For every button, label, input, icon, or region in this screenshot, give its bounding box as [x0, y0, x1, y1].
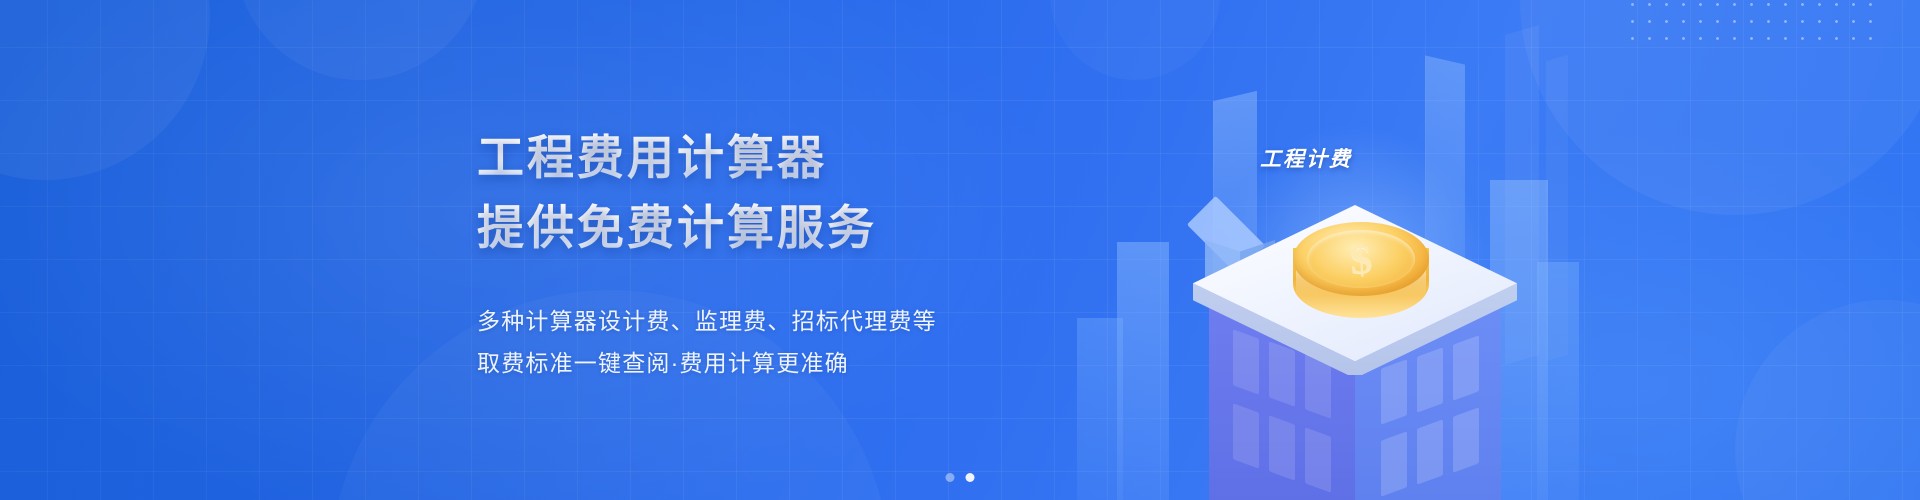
dollar-sign-icon: $ — [1291, 226, 1431, 292]
carousel-dots — [946, 473, 975, 482]
hero-banner: 工程费用计算器 提供免费计算服务 多种计算器设计费、监理费、招标代理费等 取费标… — [0, 0, 1920, 500]
illustration-label: 工程计费 — [1260, 143, 1352, 173]
carousel-dot-2[interactable] — [966, 473, 975, 482]
gold-coin-icon: $ — [1293, 222, 1429, 334]
banner-illustration: $ 工程计费 — [1095, 0, 1575, 500]
building-window — [1453, 407, 1479, 472]
building-window — [1269, 415, 1295, 480]
skyline-block-1 — [1117, 242, 1169, 500]
carousel-dot-1[interactable] — [946, 473, 955, 482]
skyline-block-2 — [1077, 318, 1123, 500]
building-window — [1381, 431, 1407, 496]
building-window — [1417, 419, 1443, 484]
building-window — [1233, 403, 1259, 468]
decorative-dot-grid — [1624, 0, 1884, 40]
building-window — [1305, 427, 1331, 492]
skyline-block-4 — [1537, 262, 1579, 500]
